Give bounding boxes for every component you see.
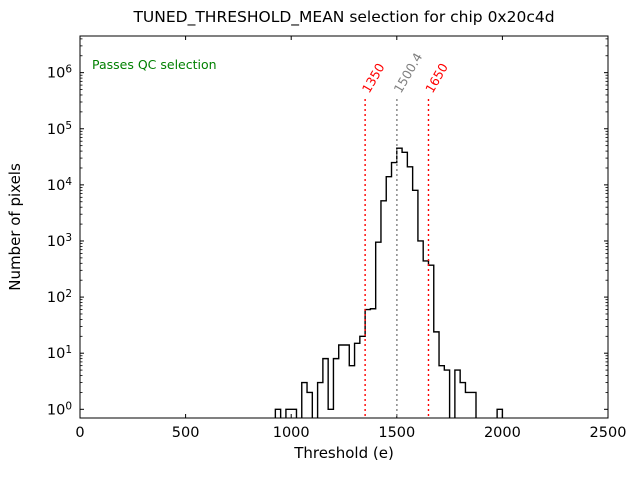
plot-frame — [80, 36, 608, 418]
y-tick-label: 101 — [47, 344, 72, 362]
x-tick-label: 2500 — [590, 425, 627, 441]
y-tick-label: 105 — [47, 120, 72, 138]
threshold-line-label: 1350 — [359, 60, 388, 95]
y-axis-label: Number of pixels — [6, 163, 24, 291]
x-tick-label: 0 — [75, 425, 84, 441]
y-tick-label: 103 — [47, 232, 72, 250]
page-title: TUNED_THRESHOLD_MEAN selection for chip … — [132, 8, 554, 27]
y-tick-label: 106 — [47, 64, 72, 82]
y-tick-label: 104 — [47, 176, 72, 194]
y-axis-minor-ticks — [80, 39, 608, 393]
y-tick-label: 100 — [47, 400, 72, 418]
threshold-line-label: 1500.4 — [390, 50, 425, 95]
y-axis-tick-labels: 100101102103104105106 — [47, 64, 72, 419]
y-tick-label: 102 — [47, 288, 72, 306]
threshold-line-labels: 13501500.41650 — [359, 50, 451, 95]
histogram-outline — [275, 148, 502, 418]
x-tick-label: 1000 — [273, 425, 310, 441]
y-axis-ticks — [80, 73, 608, 410]
x-tick-label: 2000 — [484, 425, 521, 441]
x-axis-label: Threshold (e) — [293, 444, 394, 462]
threshold-line-label: 1650 — [422, 60, 451, 95]
qc-selection-annotation: Passes QC selection — [92, 57, 217, 72]
x-tick-label: 1500 — [378, 425, 415, 441]
x-tick-label: 500 — [172, 425, 200, 441]
x-axis-ticks — [80, 36, 608, 418]
threshold-lines — [365, 99, 428, 418]
figure-canvas: 05001000150020002500 1001011021031041051… — [0, 0, 640, 480]
histogram-chart: 05001000150020002500 1001011021031041051… — [0, 0, 640, 480]
x-axis-tick-labels: 05001000150020002500 — [75, 425, 626, 441]
